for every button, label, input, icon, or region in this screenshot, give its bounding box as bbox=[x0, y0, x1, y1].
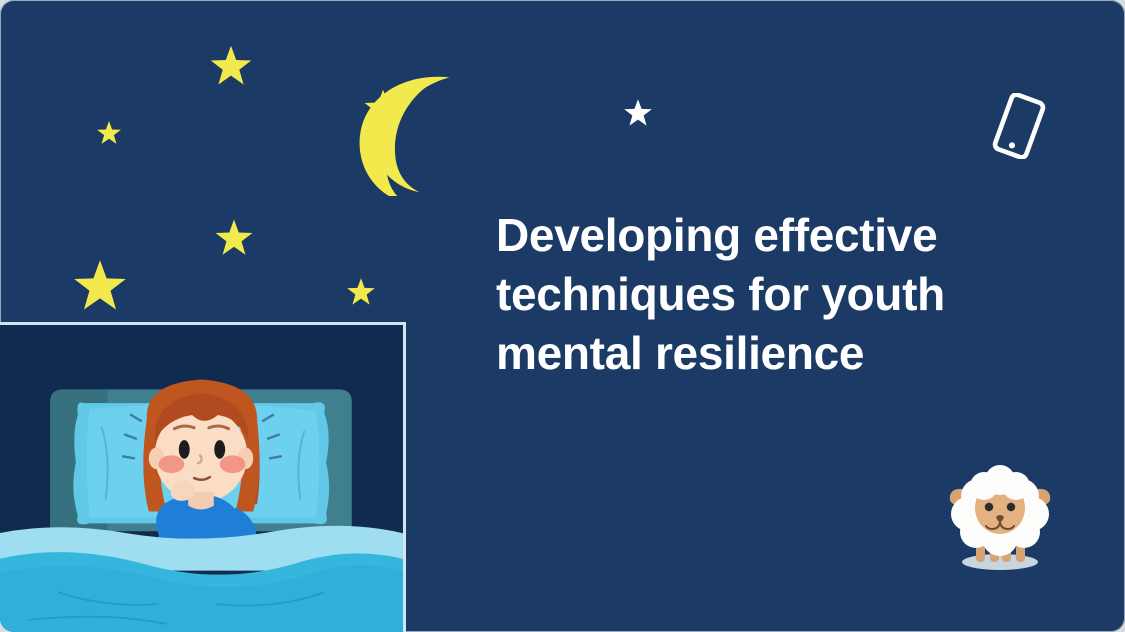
star-yellow-5-icon bbox=[346, 277, 376, 307]
star-yellow-1-icon bbox=[209, 44, 253, 88]
star-yellow-2-icon bbox=[96, 120, 122, 146]
girl-awake-in-bed-photo bbox=[0, 322, 406, 632]
sheep-illustration bbox=[944, 452, 1056, 574]
crescent-moon-icon bbox=[348, 72, 472, 196]
page-title: Developing effective techniques for yout… bbox=[496, 206, 1036, 383]
presentation-slide: Developing effective techniques for yout… bbox=[0, 0, 1125, 632]
star-yellow-4-icon bbox=[72, 258, 128, 314]
smartphone-icon bbox=[988, 93, 1050, 159]
star-white-1-icon bbox=[623, 98, 653, 128]
star-yellow-3-icon bbox=[214, 218, 254, 258]
